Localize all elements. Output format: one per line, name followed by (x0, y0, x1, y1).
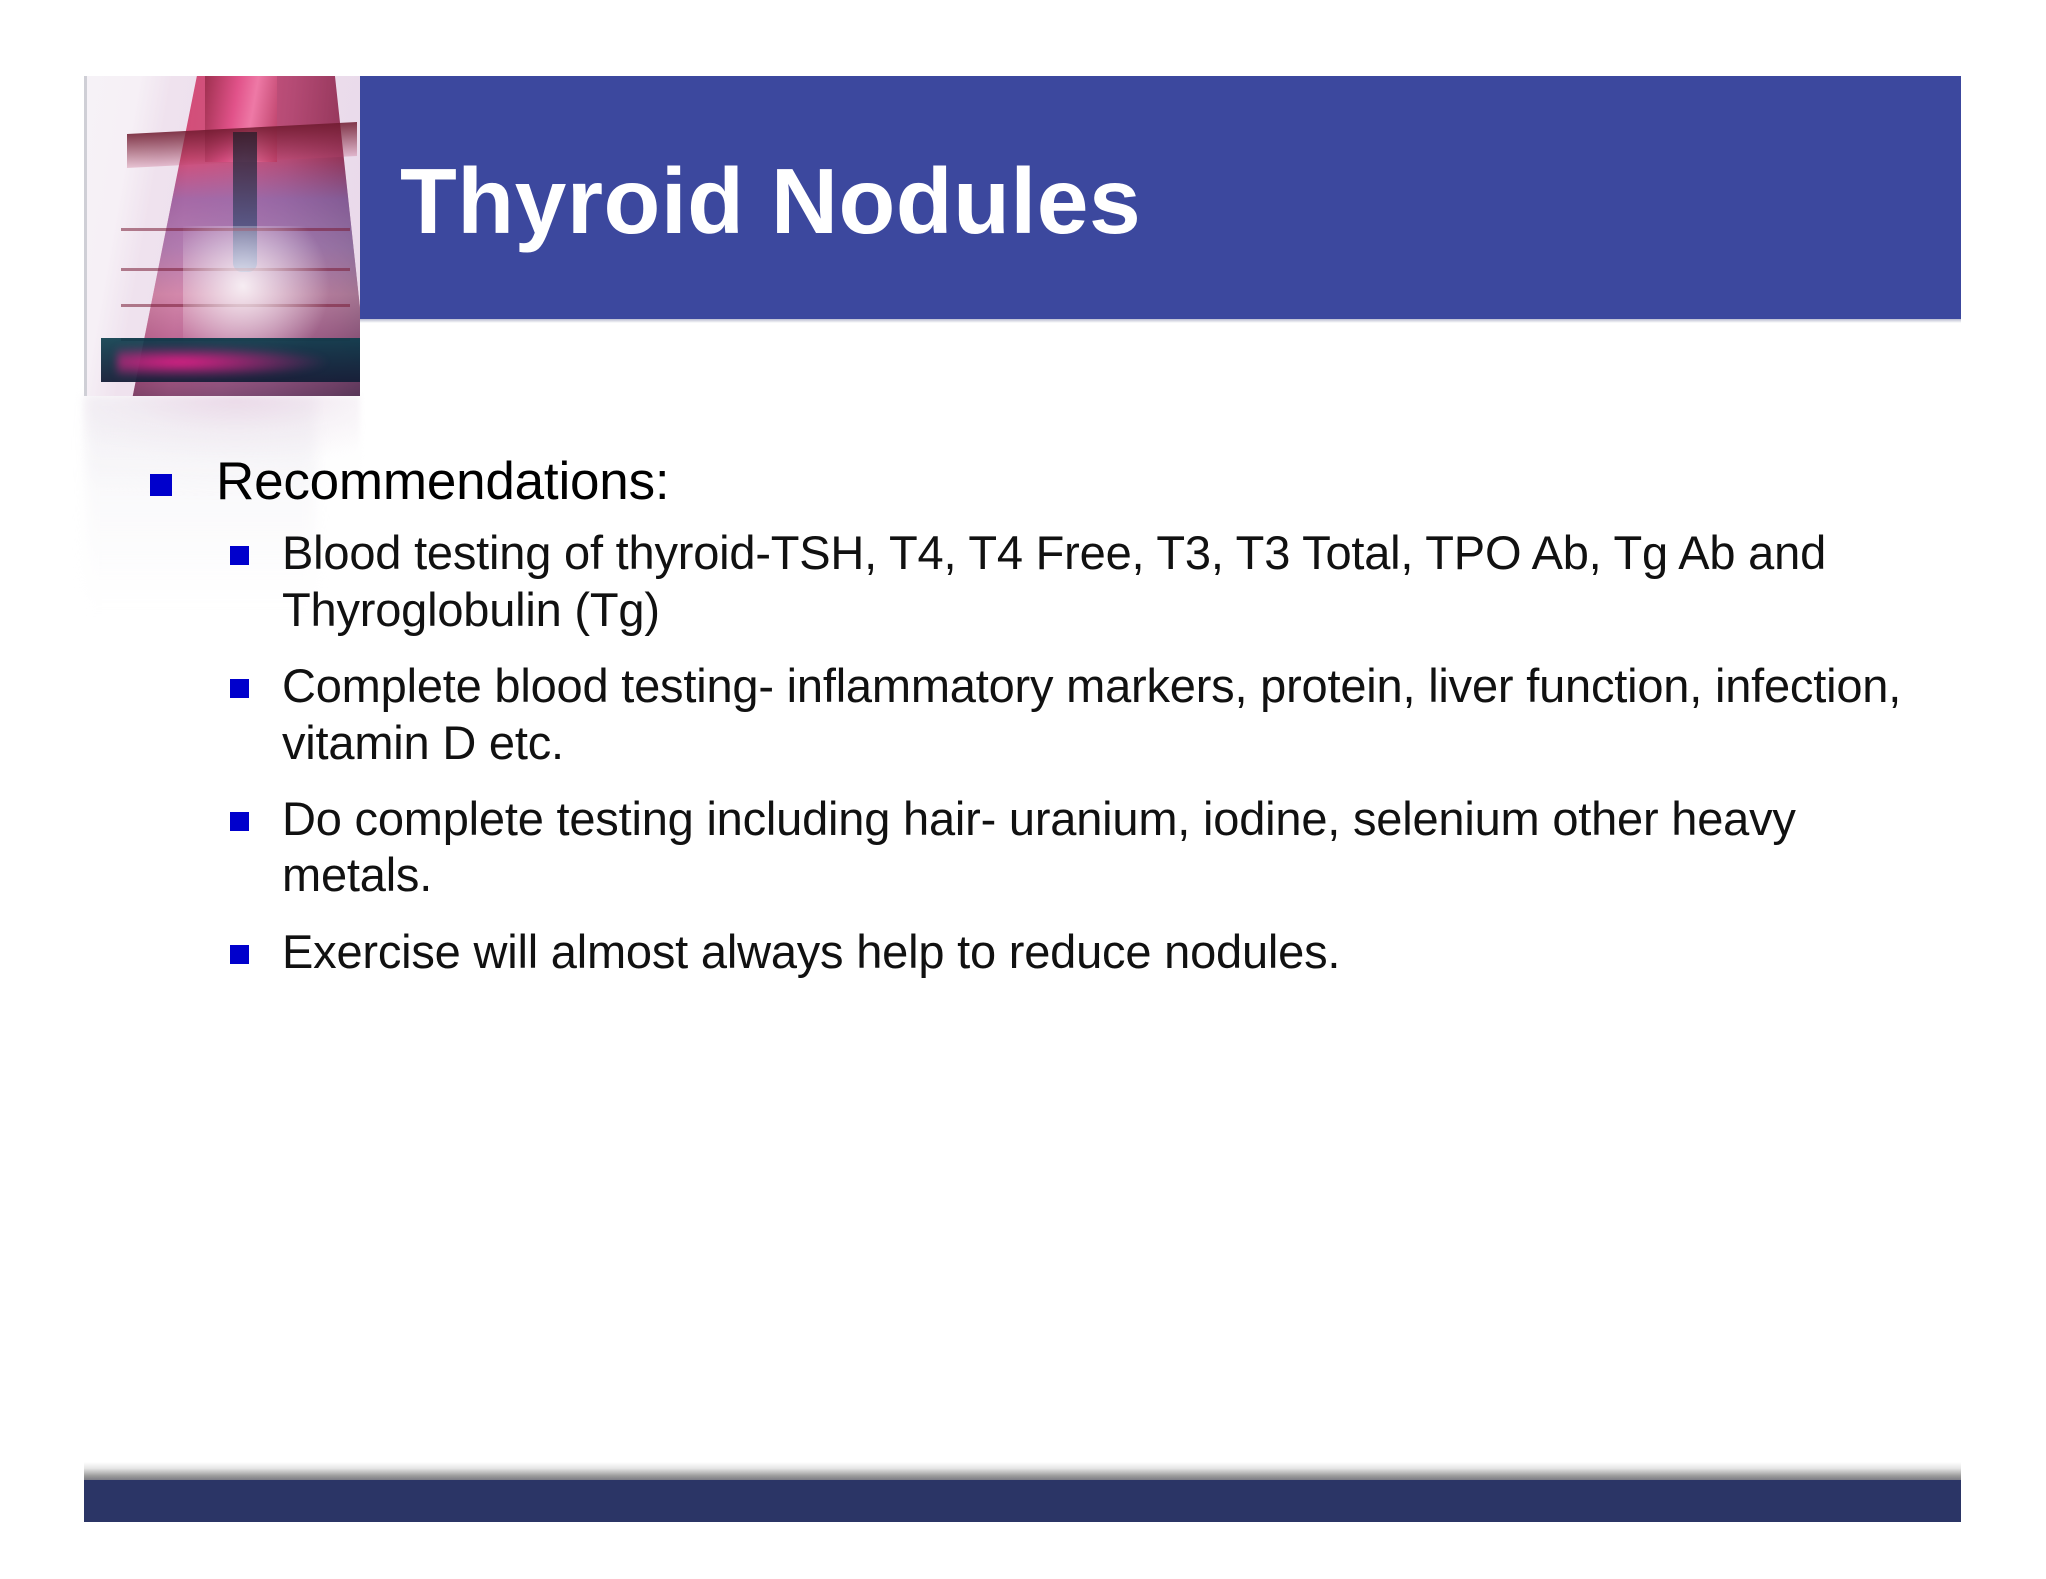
list-item-label: Blood testing of thyroid-TSH, T4, T4 Fre… (282, 525, 1940, 638)
recommendations-heading: Recommendations: (216, 452, 669, 511)
list-item-label: Exercise will almost always help to redu… (282, 924, 1340, 980)
list-item: Do complete testing including hair- uran… (230, 791, 1940, 904)
slide-footer-bar (84, 1480, 1961, 1522)
list-item-label: Do complete testing including hair- uran… (282, 791, 1940, 904)
bullet-square-icon (230, 945, 249, 964)
footer-divider (84, 1462, 1961, 1480)
list-item: Complete blood testing- inflammatory mar… (230, 658, 1940, 771)
bullet-square-icon (230, 546, 249, 565)
page-title: Thyroid Nodules (400, 155, 1141, 248)
list-item-label: Complete blood testing- inflammatory mar… (282, 658, 1940, 771)
presentation-slide: Thyroid Nodules Recommendations: Blood t… (0, 0, 2046, 1579)
bullet-square-icon (150, 474, 172, 496)
bullet-square-icon (230, 679, 249, 698)
recommendations-sublist: Blood testing of thyroid-TSH, T4, T4 Fre… (230, 525, 1940, 980)
laboratory-flask-photo (84, 76, 360, 396)
list-item: Exercise will almost always help to redu… (230, 924, 1940, 980)
bullet-square-icon (230, 812, 249, 831)
list-item: Blood testing of thyroid-TSH, T4, T4 Fre… (230, 525, 1940, 638)
slide-body: Recommendations: Blood testing of thyroi… (150, 452, 1940, 1000)
flask-liquid-pool (117, 346, 327, 378)
list-item: Recommendations: (150, 452, 1940, 511)
